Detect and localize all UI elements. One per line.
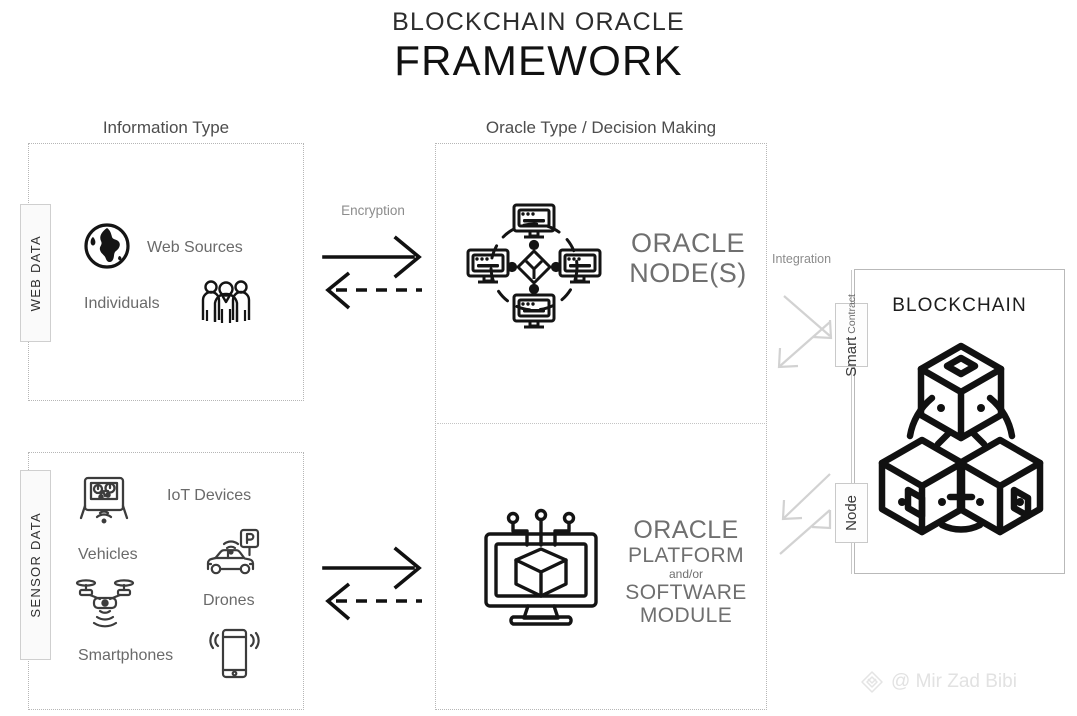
oracle-platform-monitor-icon: [480, 510, 604, 632]
title-line-2: FRAMEWORK: [0, 37, 1077, 84]
smartphone-signal-icon: [207, 622, 261, 680]
diamond-logo-icon: [860, 670, 884, 694]
oracle-nodes-label: ORACLE NODE(S): [608, 228, 768, 288]
oracle-platform-line-2: PLATFORM: [600, 544, 772, 568]
watermark-text: @ Mir Zad Bibi: [891, 671, 1017, 693]
item-label-individuals: Individuals: [84, 295, 160, 313]
item-label-web-sources: Web Sources: [147, 239, 243, 257]
item-label-vehicles: Vehicles: [78, 546, 138, 564]
column-header-information-type: Information Type: [28, 118, 304, 138]
oracle-platform-label: ORACLE PLATFORM and/or SOFTWARE MODULE: [600, 516, 772, 628]
connector-line-smart-to-node: [851, 366, 852, 484]
oracle-nodes-line-2: NODE(S): [608, 258, 768, 288]
page-title: BLOCKCHAIN ORACLE FRAMEWORK: [0, 8, 1077, 84]
category-tag-web-data-label: WEB DATA: [28, 235, 43, 311]
drone-icon: [74, 576, 136, 628]
panel-web-data: [28, 143, 304, 401]
smart-contract-box[interactable]: Smart Contract: [835, 303, 868, 367]
blockchain-cubes-icon: [880, 340, 1042, 546]
encryption-arrows-bottom: [320, 543, 426, 621]
node-label: Node: [843, 495, 860, 531]
category-tag-sensor-data: SENSOR DATA: [20, 470, 51, 660]
smart-contract-label-secondary: Contract: [846, 294, 858, 334]
item-label-smartphones: Smartphones: [78, 647, 173, 665]
column-header-oracle-type: Oracle Type / Decision Making: [435, 118, 767, 138]
category-tag-sensor-data-label: SENSOR DATA: [28, 512, 43, 618]
category-tag-web-data: WEB DATA: [20, 204, 51, 342]
panel-sensor-data: [28, 452, 304, 710]
oracle-platform-line-1: ORACLE: [600, 516, 772, 544]
oracle-platform-line-4: SOFTWARE: [600, 581, 772, 605]
item-label-iot-devices: IoT Devices: [167, 487, 251, 505]
blockchain-title: BLOCKCHAIN: [854, 295, 1065, 317]
people-group-icon: [200, 278, 252, 326]
watermark: @ Mir Zad Bibi: [860, 670, 1017, 694]
item-label-drones: Drones: [203, 592, 255, 610]
oracle-platform-line-5: MODULE: [600, 604, 772, 628]
iot-device-icon: [78, 472, 130, 526]
node-box[interactable]: Node: [835, 483, 868, 543]
oracle-panel-divider: [437, 423, 765, 424]
integration-label: Integration: [772, 252, 864, 266]
oracle-node-network-icon: [470, 203, 598, 331]
encryption-label: Encryption: [318, 203, 428, 218]
oracle-nodes-line-1: ORACLE: [608, 228, 768, 258]
smart-contract-label-primary: Smart: [843, 336, 860, 376]
title-line-1: BLOCKCHAIN ORACLE: [0, 8, 1077, 37]
globe-icon: [83, 222, 131, 270]
encryption-arrows-top: [320, 232, 426, 310]
oracle-platform-line-3: and/or: [600, 568, 772, 581]
connected-car-icon: [203, 528, 261, 578]
connector-line-node-bottom: [851, 542, 852, 574]
